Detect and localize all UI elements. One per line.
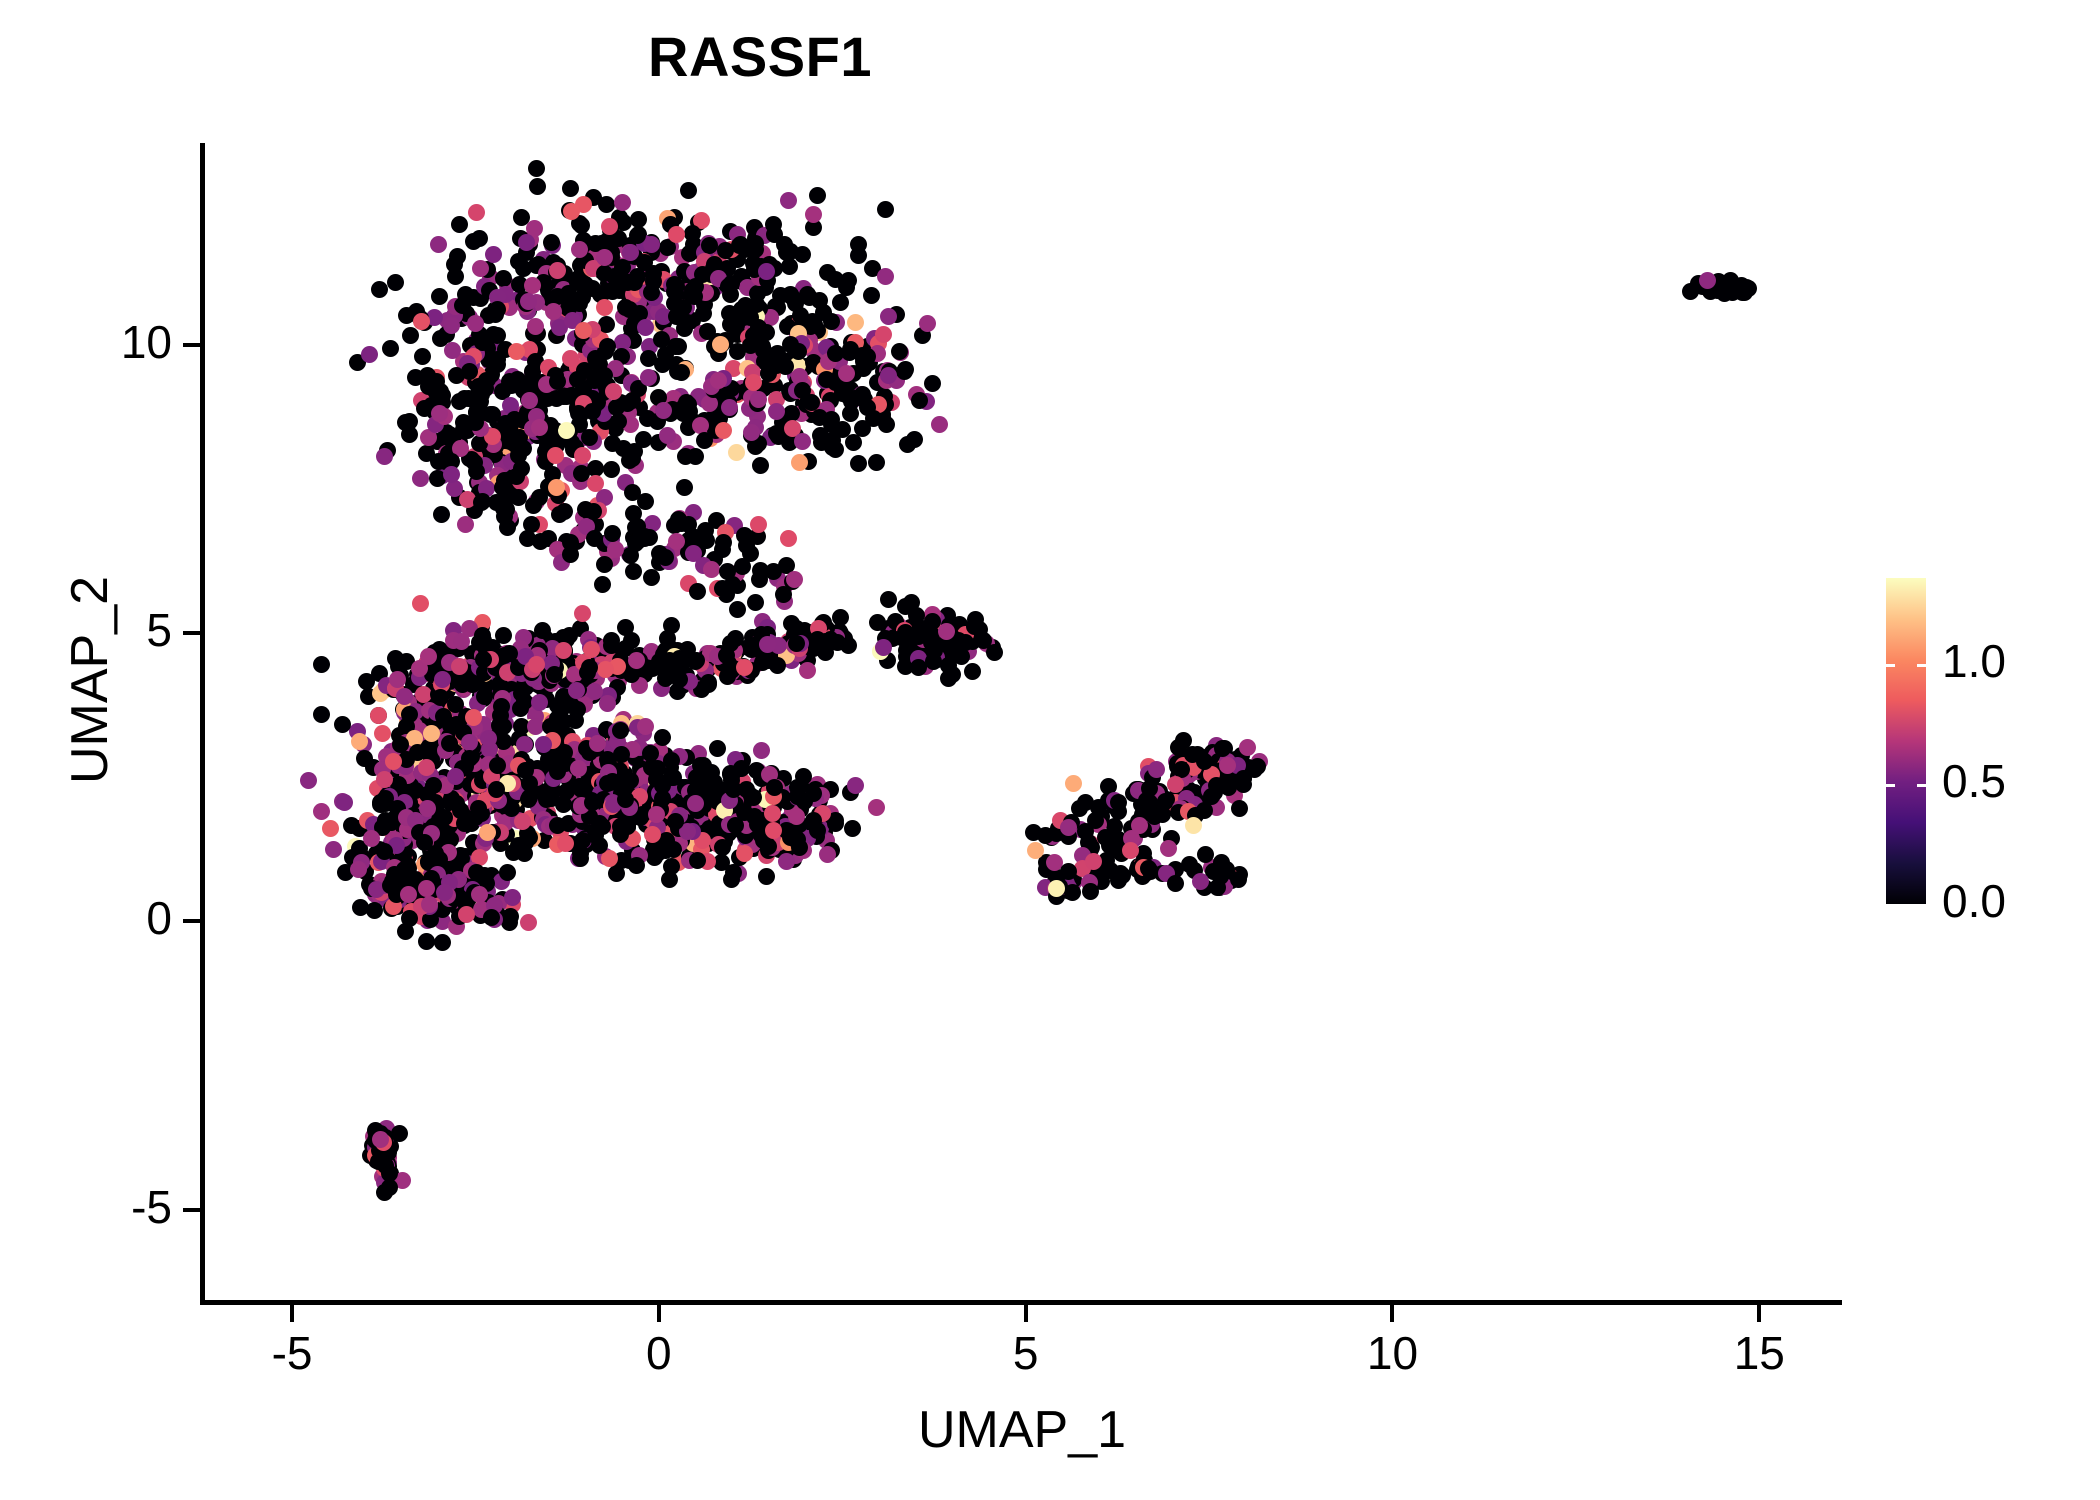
scatter-point (623, 632, 640, 649)
scatter-point (414, 348, 431, 365)
colorbar-tick-mark (1886, 664, 1895, 667)
scatter-point (752, 457, 769, 474)
scatter-point (573, 217, 590, 234)
scatter-point (1214, 740, 1231, 757)
scatter-point (1197, 846, 1214, 863)
scatter-point (823, 313, 840, 330)
scatter-point (1077, 823, 1094, 840)
scatter-point (436, 884, 453, 901)
scatter-point (432, 689, 449, 706)
scatter-point (513, 685, 530, 702)
scatter-point (687, 795, 704, 812)
scatter-point (1140, 860, 1157, 877)
scatter-point (370, 707, 387, 724)
scatter-point (467, 414, 484, 431)
scatter-point (605, 383, 622, 400)
scatter-point (629, 268, 646, 285)
scatter-point (637, 718, 654, 735)
scatter-point (517, 762, 534, 779)
scatter-point (492, 707, 509, 724)
scatter-point (478, 372, 495, 389)
scatter-point (343, 817, 360, 834)
scatter-point (489, 301, 506, 318)
scatter-point (1724, 282, 1741, 299)
scatter-point (534, 622, 551, 639)
scatter-point (855, 353, 872, 370)
scatter-point (515, 260, 532, 277)
y-axis-line (200, 143, 205, 1305)
scatter-point (809, 631, 826, 648)
scatter-point (529, 178, 546, 195)
scatter-point (877, 201, 894, 218)
scatter-point (847, 777, 864, 794)
scatter-point (753, 742, 770, 759)
scatter-point (599, 695, 616, 712)
scatter-point (495, 270, 512, 287)
scatter-point (655, 402, 672, 419)
scatter-point (376, 448, 393, 465)
scatter-point (604, 435, 621, 452)
scatter-point (768, 425, 785, 442)
scatter-point (750, 516, 767, 533)
colorbar-tick-mark (1886, 904, 1895, 907)
scatter-point (792, 307, 809, 324)
scatter-point (663, 769, 680, 786)
scatter-point (514, 813, 531, 830)
scatter-point (431, 288, 448, 305)
scatter-point (1160, 840, 1177, 857)
scatter-point (385, 753, 402, 770)
scatter-point (531, 694, 548, 711)
scatter-point (470, 800, 487, 817)
scatter-point (583, 641, 600, 658)
scatter-point (845, 434, 862, 451)
scatter-point (714, 839, 731, 856)
x-tick-label: -5 (212, 1326, 372, 1380)
scatter-point (581, 429, 598, 446)
scatter-point (827, 441, 844, 458)
scatter-point (382, 340, 399, 357)
scatter-point (381, 1179, 398, 1196)
scatter-point (556, 503, 573, 520)
scatter-point (528, 160, 545, 177)
scatter-point (441, 735, 458, 752)
scatter-point (613, 774, 630, 791)
scatter-point (604, 525, 621, 542)
scatter-point (869, 614, 886, 631)
scatter-point (475, 651, 492, 668)
scatter-point (734, 558, 751, 575)
scatter-point (877, 268, 894, 285)
scatter-point (750, 391, 767, 408)
scatter-point (710, 372, 727, 389)
scatter-point (569, 701, 586, 718)
scatter-point (637, 319, 654, 336)
scatter-point (868, 799, 885, 816)
scatter-point (924, 375, 941, 392)
scatter-point (809, 187, 826, 204)
scatter-point (562, 546, 579, 563)
scatter-point (728, 444, 745, 461)
scatter-point (643, 569, 660, 586)
scatter-point (847, 314, 864, 331)
scatter-point (430, 236, 447, 253)
scatter-point (644, 826, 661, 843)
scatter-point (1141, 780, 1158, 797)
scatter-point (451, 216, 468, 233)
scatter-point (736, 845, 753, 862)
scatter-point (434, 671, 451, 688)
scatter-point (663, 752, 680, 769)
scatter-point (466, 454, 483, 471)
scatter-point (416, 834, 433, 851)
scatter-point (461, 363, 478, 380)
scatter-point (850, 236, 867, 253)
scatter-point (508, 343, 525, 360)
scatter-point (758, 868, 775, 885)
scatter-point (1239, 739, 1256, 756)
scatter-point (504, 889, 521, 906)
scatter-point (769, 657, 786, 674)
scatter-point (444, 342, 461, 359)
scatter-point (781, 258, 798, 275)
scatter-point (521, 392, 538, 409)
scatter-point (563, 203, 580, 220)
scatter-point (663, 858, 680, 875)
scatter-point (1235, 770, 1252, 787)
scatter-point (432, 383, 449, 400)
scatter-point (447, 268, 464, 285)
scatter-point (443, 466, 460, 483)
figure-root: RASSF1 -5051015 -50510 UMAP_1 UMAP_2 1.0… (0, 0, 2100, 1500)
y-tick-mark (183, 919, 200, 923)
scatter-point (471, 886, 488, 903)
scatter-point (911, 622, 928, 639)
scatter-point (931, 416, 948, 433)
scatter-point (850, 455, 867, 472)
scatter-point (313, 656, 330, 673)
scatter-point (489, 757, 506, 774)
scatter-point (351, 733, 368, 750)
scatter-point (479, 824, 496, 841)
scatter-point (686, 288, 703, 305)
scatter-point (434, 934, 451, 951)
scatter-point (488, 494, 505, 511)
scatter-point (485, 246, 502, 263)
scatter-point (689, 583, 706, 600)
scatter-point (1231, 800, 1248, 817)
scatter-point (562, 180, 579, 197)
scatter-point (747, 594, 764, 611)
scatter-point (443, 317, 460, 334)
scatter-point (875, 639, 892, 656)
scatter-point (794, 246, 811, 263)
scatter-point (387, 274, 404, 291)
scatter-point (589, 735, 606, 752)
scatter-point (499, 864, 516, 881)
page-title: RASSF1 (0, 24, 1810, 89)
scatter-point (765, 822, 782, 839)
scatter-point (736, 659, 753, 676)
scatter-point (612, 826, 629, 843)
scatter-point (964, 663, 981, 680)
scatter-point (596, 265, 613, 282)
scatter-point (520, 914, 537, 931)
scatter-point (568, 682, 585, 699)
scatter-point (805, 812, 822, 829)
scatter-point (677, 448, 694, 465)
scatter-point (579, 664, 596, 681)
scatter-point (628, 857, 645, 874)
scatter-point (461, 734, 478, 751)
scatter-point (1065, 775, 1082, 792)
scatter-point (313, 803, 330, 820)
scatter-point (891, 343, 908, 360)
scatter-point (1082, 883, 1099, 900)
scatter-point (1167, 875, 1184, 892)
scatter-point (727, 817, 744, 834)
scatter-point (322, 820, 339, 837)
scatter-point (474, 627, 491, 644)
scatter-point (758, 263, 775, 280)
scatter-point (919, 315, 936, 332)
x-tick-label: 5 (946, 1326, 1106, 1380)
scatter-point (783, 288, 800, 305)
scatter-point (495, 627, 512, 644)
scatter-point (516, 736, 533, 753)
scatter-point (659, 427, 676, 444)
scatter-point (764, 805, 781, 822)
scatter-point (819, 846, 836, 863)
scatter-point (689, 852, 706, 869)
scatter-point (714, 580, 731, 597)
scatter-point (684, 225, 701, 242)
scatter-point (811, 409, 828, 426)
scatter-point (574, 605, 591, 622)
scatter-point (654, 729, 671, 746)
scatter-point (651, 545, 668, 562)
colorbar-tick-mark (1917, 904, 1926, 907)
scatter-point (451, 658, 468, 675)
scatter-point (521, 829, 538, 846)
scatter-point (695, 773, 712, 790)
scatter-point (596, 556, 613, 573)
scatter-point (729, 601, 746, 618)
scatter-point (516, 845, 533, 862)
scatter-point (596, 299, 613, 316)
scatter-point (336, 794, 353, 811)
scatter-point (832, 294, 849, 311)
scatter-point (465, 709, 482, 726)
scatter-point (760, 838, 777, 855)
scatter-point (494, 479, 511, 496)
scatter-point (680, 182, 697, 199)
scatter-point (467, 315, 484, 332)
scatter-point (838, 365, 855, 382)
scatter-point (597, 661, 614, 678)
scatter-point (543, 234, 560, 251)
scatter-point (599, 775, 616, 792)
scatter-point (640, 369, 657, 386)
scatter-point (768, 403, 785, 420)
scatter-point (549, 262, 566, 279)
scatter-point (630, 211, 647, 228)
scatter-point (671, 650, 688, 667)
scatter-point (794, 382, 811, 399)
scatter-point (377, 790, 394, 807)
scatter-point (799, 662, 816, 679)
scatter-point (574, 832, 591, 849)
scatter-point (361, 346, 378, 363)
x-tick-label: 15 (1679, 1326, 1839, 1380)
scatter-point (510, 489, 527, 506)
scatter-point (525, 497, 542, 514)
scatter-point (586, 530, 603, 547)
scatter-point (843, 392, 860, 409)
scatter-point (794, 433, 811, 450)
scatter-point (418, 880, 435, 897)
scatter-point (412, 470, 429, 487)
scatter-point (469, 397, 486, 414)
scatter-point (628, 652, 645, 669)
x-tick-mark (657, 1305, 661, 1322)
scatter-point (352, 899, 369, 916)
scatter-point (546, 666, 563, 683)
scatter-point (548, 479, 565, 496)
scatter-point (676, 479, 693, 496)
scatter-point (421, 896, 438, 913)
scatter-point (911, 392, 928, 409)
colorbar-tick-mark (1886, 784, 1895, 787)
scatter-point (725, 864, 742, 881)
y-tick-label: -5 (0, 1180, 172, 1234)
scatter-point (668, 226, 685, 243)
scatter-point (420, 648, 437, 665)
scatter-point (1682, 283, 1699, 300)
scatter-point (697, 522, 714, 539)
x-tick-mark (1757, 1305, 1761, 1322)
x-tick-mark (290, 1305, 294, 1322)
x-axis-line (200, 1300, 1842, 1305)
scatter-point (465, 233, 482, 250)
scatter-point (1185, 817, 1202, 834)
scatter-point (940, 657, 957, 674)
scatter-point (596, 249, 613, 266)
scatter-point (527, 318, 544, 335)
scatter-point (925, 653, 942, 670)
scatter-point (594, 576, 611, 593)
scatter-point (433, 506, 450, 523)
scatter-point (334, 716, 351, 733)
scatter-point (875, 326, 892, 343)
colorbar-gradient (1886, 578, 1926, 904)
scatter-point (413, 313, 430, 330)
scatter-point (789, 779, 806, 796)
scatter-point (1148, 761, 1165, 778)
scatter-point (488, 781, 505, 798)
x-tick-mark (1024, 1305, 1028, 1322)
scatter-point (574, 289, 591, 306)
scatter-point (1114, 867, 1131, 884)
scatter-point (688, 652, 705, 669)
scatter-point (782, 829, 799, 846)
scatter-point (752, 562, 769, 579)
scatter-point (692, 417, 709, 434)
scatter-point (1167, 776, 1184, 793)
scatter-point (715, 422, 732, 439)
scatter-point (700, 676, 717, 693)
scatter-point (1141, 794, 1158, 811)
scatter-point (570, 405, 587, 422)
scatter-point (786, 571, 803, 588)
scatter-point (868, 454, 885, 471)
scatter-point (371, 281, 388, 298)
scatter-point (676, 320, 693, 337)
scatter-point (300, 772, 317, 789)
scatter-point (719, 563, 736, 580)
scatter-point (641, 529, 658, 546)
scatter-point (1230, 871, 1247, 888)
scatter-point (528, 656, 545, 673)
scatter-point (472, 260, 489, 277)
colorbar-tick-label: 0.0 (1942, 874, 2006, 928)
scatter-point (840, 272, 857, 289)
colorbar-tick-mark (1917, 664, 1926, 667)
scatter-point (607, 541, 624, 558)
y-tick-mark (183, 631, 200, 635)
scatter-point (532, 533, 549, 550)
scatter-point (313, 706, 330, 723)
scatter-point (878, 416, 895, 433)
scatter-point (376, 771, 393, 788)
colorbar-tick-label: 1.0 (1942, 634, 2006, 688)
scatter-point (614, 194, 631, 211)
scatter-point (480, 730, 497, 747)
scatter-point (549, 710, 566, 727)
y-axis-label: UMAP_2 (60, 280, 120, 1080)
scatter-point (457, 516, 474, 533)
scatter-point (668, 278, 685, 295)
scatter-point (667, 813, 684, 830)
scatter-point (673, 364, 690, 381)
scatter-point (584, 794, 601, 811)
scatter-point (325, 841, 342, 858)
colorbar-tick-mark (1917, 784, 1926, 787)
scatter-point (986, 644, 1003, 661)
scatter-point (805, 206, 822, 223)
x-tick-label: 0 (579, 1326, 739, 1380)
scatter-point (423, 725, 440, 742)
scatter-point (613, 746, 630, 763)
scatter-point (587, 475, 604, 492)
x-axis-label: UMAP_1 (204, 1400, 1840, 1460)
scatter-point (374, 725, 391, 742)
scatter-point (402, 327, 419, 344)
scatter-point (899, 436, 916, 453)
scatter-point (1027, 842, 1044, 859)
scatter-point (625, 505, 642, 522)
scatter-point (880, 591, 897, 608)
scatter-point (603, 461, 620, 478)
scatter-points-layer (204, 143, 1840, 1302)
scatter-point (844, 820, 861, 837)
scatter-point (703, 561, 720, 578)
scatter-point (788, 635, 805, 652)
scatter-point (512, 700, 529, 717)
scatter-point (501, 645, 518, 662)
x-tick-label: 10 (1312, 1326, 1472, 1380)
scatter-point (400, 886, 417, 903)
